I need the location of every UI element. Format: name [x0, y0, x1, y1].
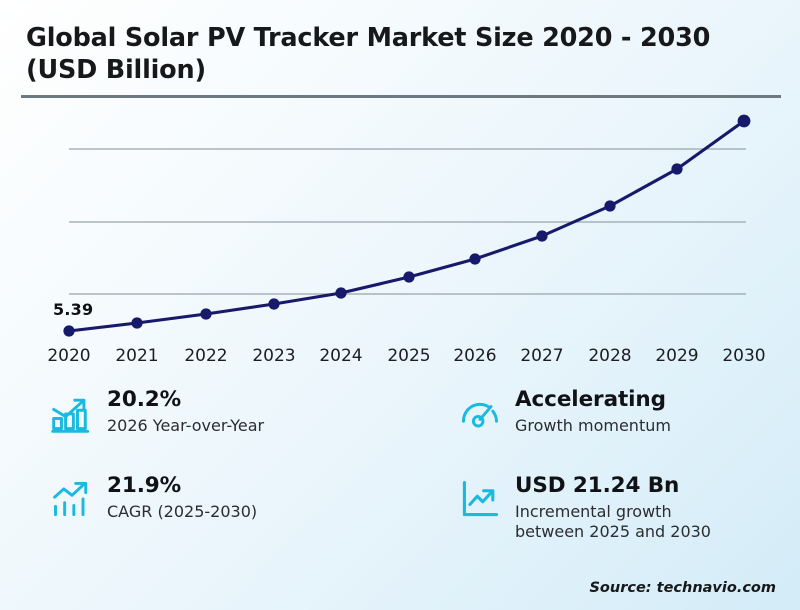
stat-caption: 2026 Year-over-Year [107, 416, 264, 436]
header-divider [21, 95, 781, 98]
stat-value: 20.2% [107, 388, 264, 413]
x-tick-2030: 2030 [704, 346, 784, 366]
stat-value: Accelerating [515, 388, 671, 413]
line-chart-arrow-icon [458, 477, 502, 521]
stat-card-cagr: 21.9% CAGR (2025-2030) [50, 474, 257, 522]
stat-card-yoy: 20.2% 2026 Year-over-Year [50, 388, 264, 436]
stat-value: USD 21.24 Bn [515, 474, 711, 499]
stat-card-incremental: USD 21.24 Bn Incremental growth between … [458, 474, 711, 542]
chart-series-line [69, 121, 744, 331]
first-point-value-label: 5.39 [53, 300, 93, 319]
line-chart: 5.39 [0, 104, 800, 366]
page-title: Global Solar PV Tracker Market Size 2020… [26, 22, 746, 87]
stat-caption: Growth momentum [515, 416, 671, 436]
stats-grid: 20.2% 2026 Year-over-Year 21.9% CAGR (20… [0, 382, 800, 562]
source-label: Source: technavio.com [589, 580, 776, 596]
stat-caption: Incremental growth between 2025 and 2030 [515, 502, 711, 542]
stat-value: 21.9% [107, 474, 257, 499]
infographic-page: Global Solar PV Tracker Market Size 2020… [0, 0, 800, 610]
gauge-speedometer-icon [458, 391, 502, 435]
bar-chart-growth-icon [50, 391, 94, 435]
bar-chart-arrow-up-icon [50, 477, 94, 521]
x-axis: 2020 2021 2022 2023 2024 2025 2026 2027 … [0, 346, 800, 372]
chart-markers [63, 115, 750, 337]
stat-caption: CAGR (2025-2030) [107, 502, 257, 522]
stat-card-momentum: Accelerating Growth momentum [458, 388, 671, 436]
x-tick-2021: 2021 [97, 346, 177, 366]
